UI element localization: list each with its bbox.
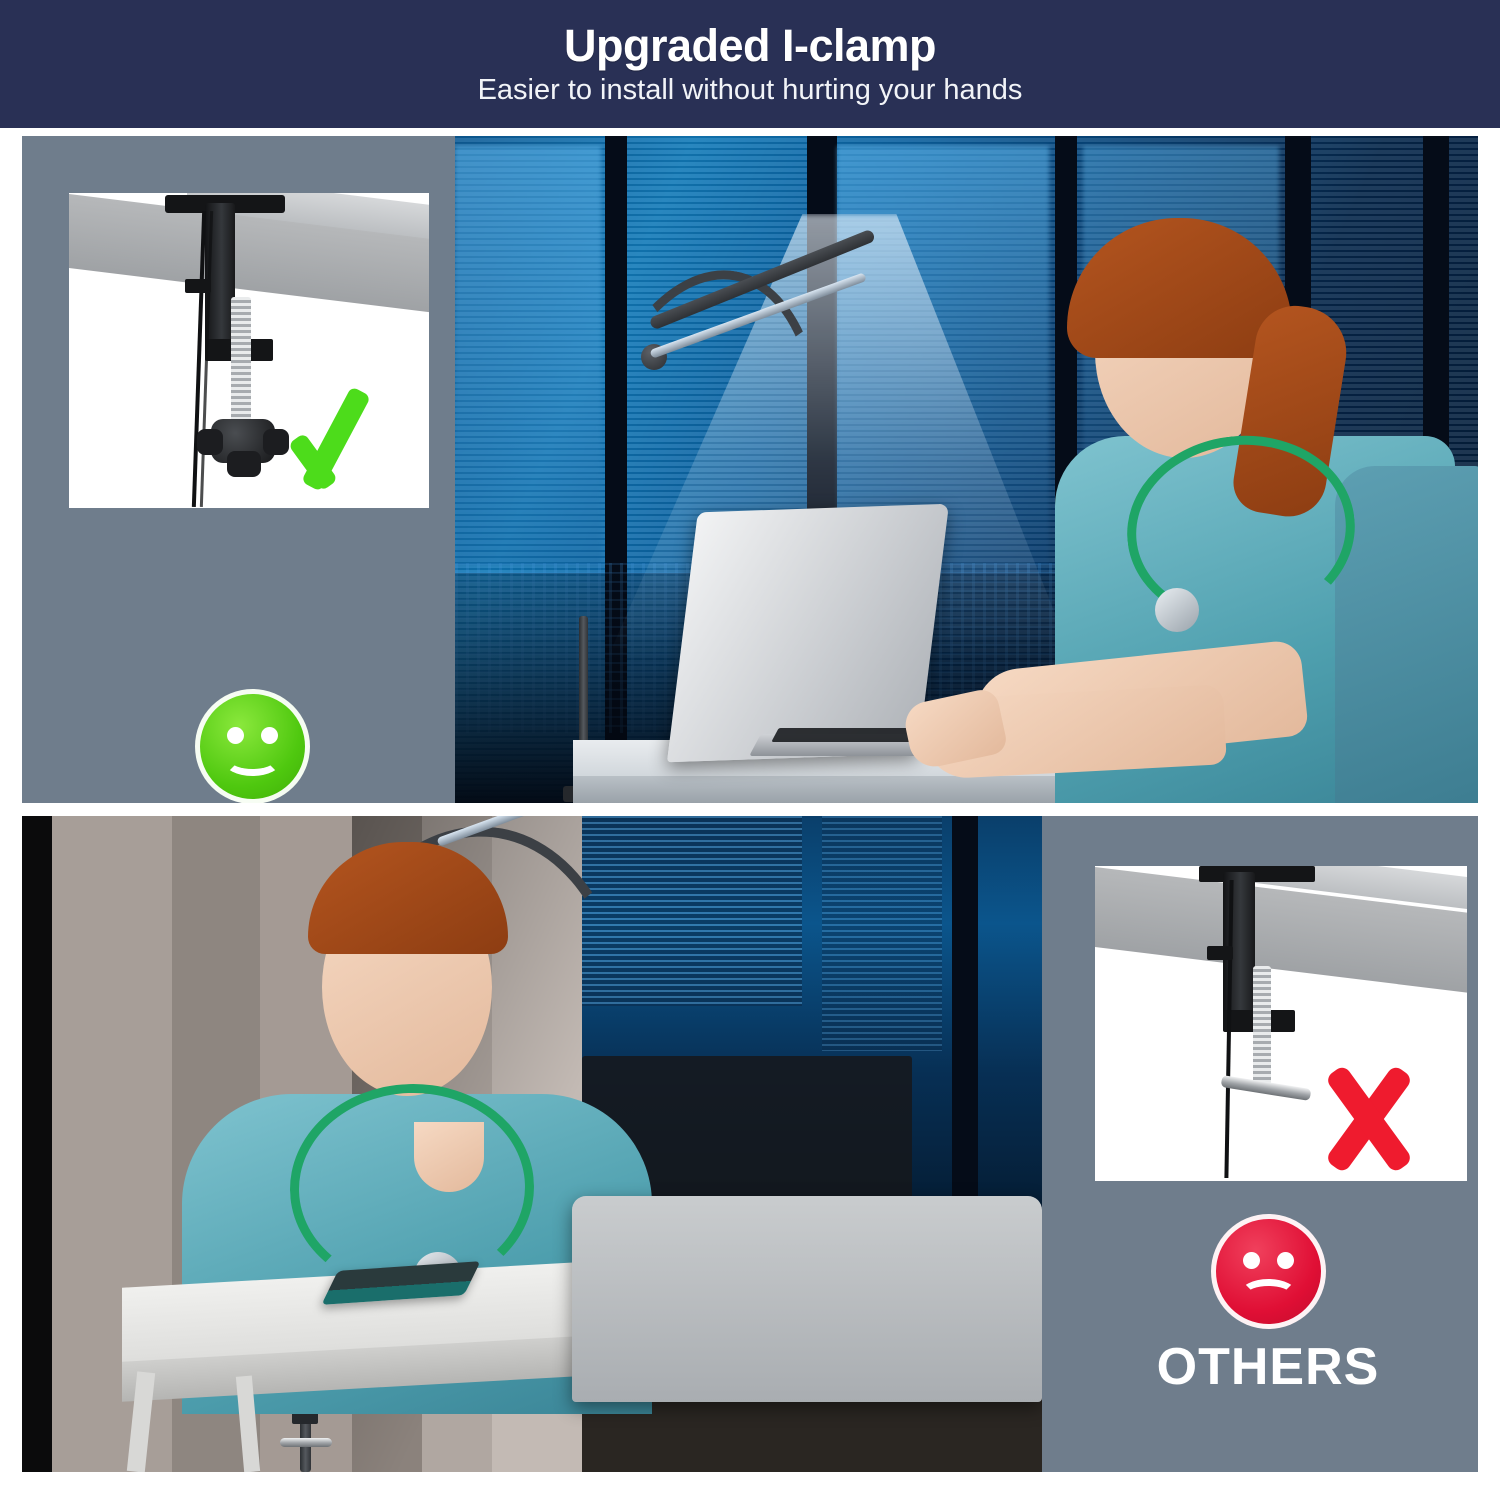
page-subtitle: Easier to install without hurting your h… — [478, 75, 1023, 105]
smiley-eye-right — [261, 727, 278, 744]
inset-clamp-bad — [1095, 866, 1467, 1181]
clamp-rod-collar — [1207, 946, 1233, 960]
page-title: Upgraded I-clamp — [564, 23, 936, 69]
red-cross-icon — [1313, 1062, 1433, 1176]
comparison-row-others: OTHERS — [22, 816, 1478, 1472]
clamp-top-plate — [1199, 866, 1315, 882]
stethoscope-chestpiece — [1155, 588, 1199, 632]
clamp-screw-thread — [231, 297, 251, 423]
clamp-rod-collar — [185, 279, 211, 293]
clamp-screw-thread — [1253, 966, 1271, 1090]
sad-eye-right — [1277, 1252, 1294, 1269]
person-shoulder — [1335, 466, 1478, 803]
badge-others: OTHERS — [1143, 1214, 1393, 1393]
smiley-mouth — [224, 746, 281, 776]
laptop-lid — [572, 1196, 1042, 1402]
inset-clamp-good — [69, 193, 429, 508]
badge-label-others: OTHERS — [1157, 1341, 1380, 1393]
photo-oures-scene — [455, 136, 1478, 803]
person-neck — [414, 1122, 484, 1192]
sad-eye-left — [1243, 1252, 1260, 1269]
smiley-eye-left — [227, 727, 244, 744]
header-banner: Upgraded I-clamp Easier to install witho… — [0, 0, 1500, 128]
comparison-row-good: OURES — [22, 136, 1478, 803]
clamp-knob-lobe — [227, 451, 261, 477]
clamp-knob-lobe — [263, 429, 289, 455]
lamp-clamp-tbar — [280, 1438, 332, 1447]
sad-face-icon — [1211, 1214, 1326, 1329]
sad-mouth — [1240, 1279, 1297, 1309]
window-mullion — [952, 816, 978, 1246]
badge-oures: OURES — [152, 689, 352, 803]
window-blinds — [822, 816, 942, 1051]
product-comparison-image: Upgraded I-clamp Easier to install witho… — [0, 0, 1500, 1494]
clamp-knob-lobe — [197, 429, 223, 455]
green-check-icon — [293, 379, 423, 495]
photo-others-scene — [22, 816, 1042, 1472]
smiley-face-icon — [195, 689, 310, 803]
